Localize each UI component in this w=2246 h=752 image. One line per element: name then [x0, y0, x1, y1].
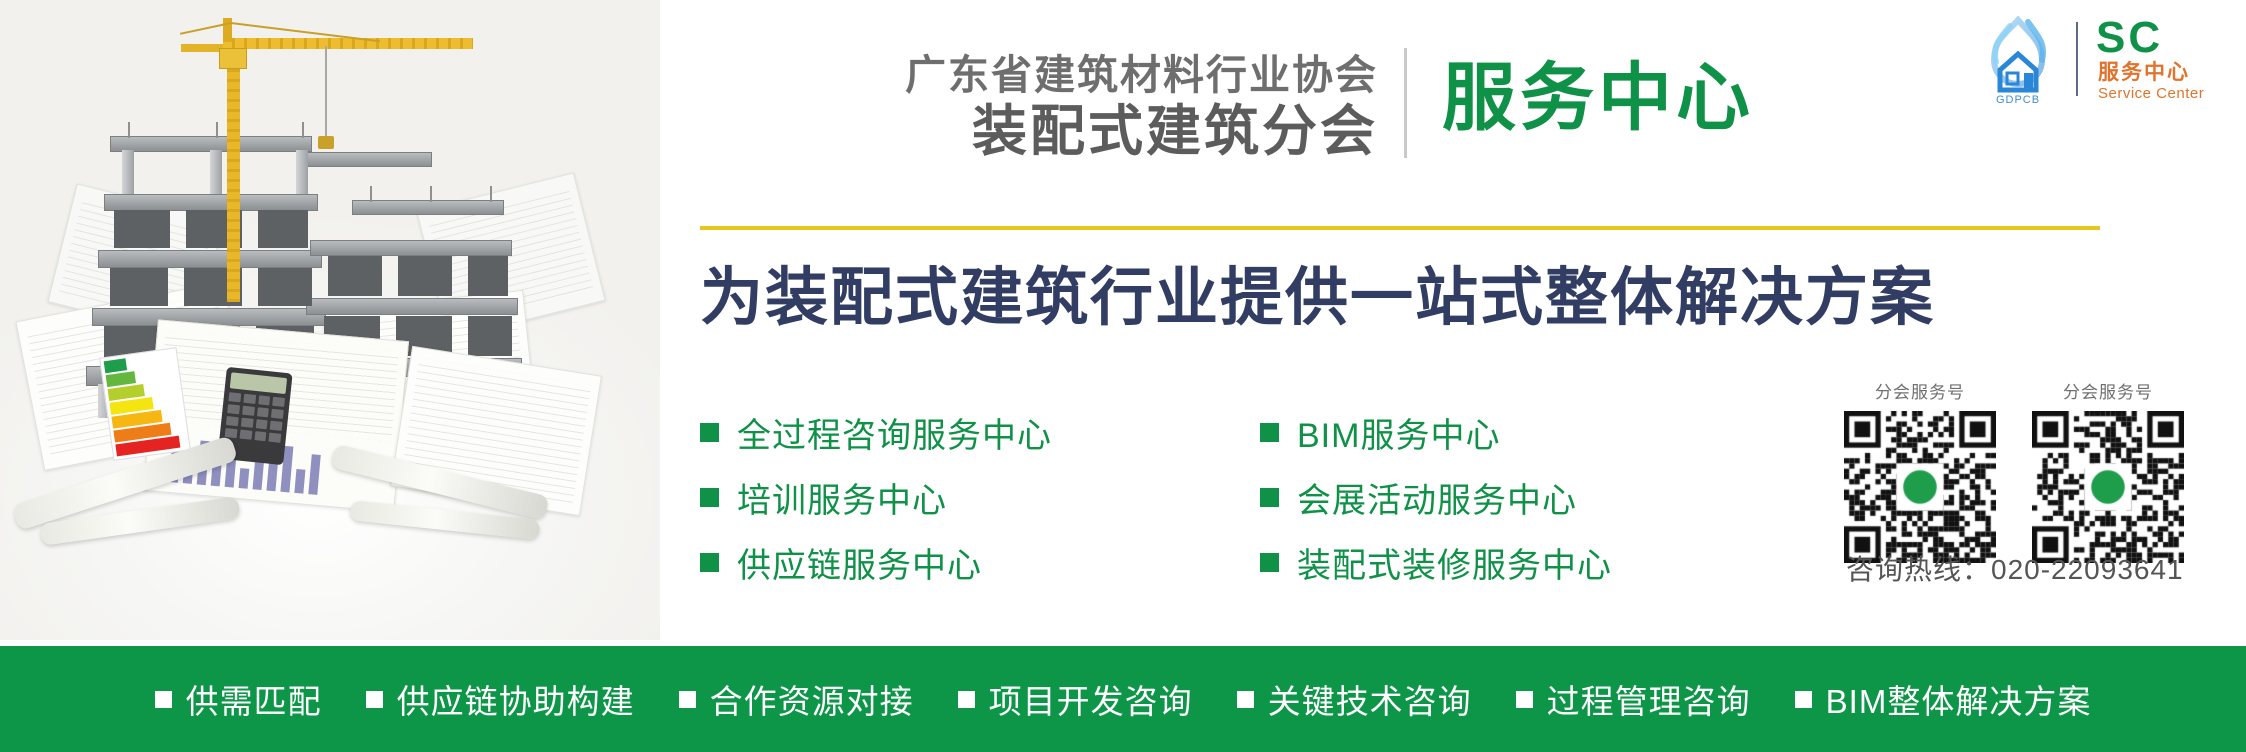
- qr-code-section: 分会服务号 分会服务号: [1840, 378, 2230, 563]
- service-item-label: BIM服务中心: [1297, 408, 1500, 457]
- square-bullet-icon: [700, 553, 719, 572]
- service-item-label: 供应链服务中心: [737, 538, 982, 587]
- footer-item-label: BIM整体解决方案: [1826, 675, 2092, 723]
- square-bullet-icon: [1260, 488, 1279, 507]
- footer-item-supply-chain-build[interactable]: 供应链协助构建: [344, 675, 657, 723]
- qr-code-block: 分会服务号: [1840, 378, 2000, 563]
- footer-item-key-technology[interactable]: 关键技术咨询: [1215, 675, 1494, 723]
- service-center-list: 全过程咨询服务中心 培训服务中心 供应链服务中心 BIM服务中心 会展活动服务中…: [700, 400, 1820, 595]
- qr-code-icon[interactable]: [2032, 411, 2184, 563]
- square-bullet-icon: [1260, 553, 1279, 572]
- footer-item-bim-solution[interactable]: BIM整体解决方案: [1773, 675, 2114, 723]
- logo-name-en: Service Center: [2098, 86, 2204, 101]
- footer-item-partner-resources[interactable]: 合作资源对接: [657, 675, 936, 723]
- logo-abbreviation: SC: [2096, 16, 2163, 60]
- logo[interactable]: GDPCB SC 服务中心 Service Center: [1968, 14, 2230, 106]
- square-bullet-icon: [366, 691, 383, 708]
- footer-item-label: 过程管理咨询: [1547, 675, 1751, 723]
- service-item-label: 会展活动服务中心: [1297, 473, 1577, 522]
- footer-item-supply-demand-matching[interactable]: 供需匹配: [133, 675, 344, 723]
- service-item-label: 全过程咨询服务中心: [737, 408, 1052, 457]
- footer-item-label: 合作资源对接: [710, 675, 914, 723]
- service-item-bim[interactable]: BIM服务中心: [1260, 400, 1820, 465]
- service-item-label: 培训服务中心: [737, 473, 947, 522]
- square-bullet-icon: [1237, 691, 1254, 708]
- association-name: 广东省建筑材料行业协会 装配式建筑分会: [838, 52, 1378, 162]
- qr-code-caption: 分会服务号: [1840, 378, 2000, 403]
- square-bullet-icon: [155, 691, 172, 708]
- footer-item-label: 关键技术咨询: [1268, 675, 1472, 723]
- footer-item-project-development[interactable]: 项目开发咨询: [936, 675, 1215, 723]
- energy-rating-chart: [99, 347, 191, 461]
- gold-divider-rule: [700, 226, 2100, 230]
- vertical-divider: [1404, 48, 1407, 158]
- square-bullet-icon: [700, 423, 719, 442]
- service-column-right: BIM服务中心 会展活动服务中心 装配式装修服务中心: [1260, 400, 1820, 595]
- service-center-title: 服务中心: [1442, 52, 1754, 145]
- logo-divider: [2076, 22, 2078, 96]
- service-item-label: 装配式装修服务中心: [1297, 538, 1612, 587]
- hotline-text: 咨询热线：020-22093641: [1846, 548, 2246, 588]
- footer-item-label: 供需匹配: [186, 675, 322, 723]
- service-item-prefab-decoration[interactable]: 装配式装修服务中心: [1260, 530, 1820, 595]
- logo-mark-caption: GDPCB: [1970, 94, 2066, 106]
- qr-code-icon[interactable]: [1844, 411, 1996, 563]
- qr-code-caption: 分会服务号: [2028, 378, 2188, 403]
- service-column-left: 全过程咨询服务中心 培训服务中心 供应链服务中心: [700, 400, 1260, 595]
- square-bullet-icon: [1260, 423, 1279, 442]
- promotional-banner: 广东省建筑材料行业协会 装配式建筑分会 服务中心 为装配式建筑行业提供一站式整体…: [0, 0, 2246, 752]
- headline-slogan: 为装配式建筑行业提供一站式整体解决方案: [700, 247, 2100, 338]
- square-bullet-icon: [958, 691, 975, 708]
- service-item-training[interactable]: 培训服务中心: [700, 465, 1260, 530]
- square-bullet-icon: [700, 488, 719, 507]
- square-bullet-icon: [1516, 691, 1533, 708]
- construction-building-blueprints-image: [0, 0, 660, 640]
- service-item-exhibition-events[interactable]: 会展活动服务中心: [1260, 465, 1820, 530]
- footer-item-process-management[interactable]: 过程管理咨询: [1494, 675, 1773, 723]
- square-bullet-icon: [679, 691, 696, 708]
- footer-item-label: 项目开发咨询: [989, 675, 1193, 723]
- footer-bar: 供需匹配 供应链协助构建 合作资源对接 项目开发咨询 关键技术咨询 过程管理咨询…: [0, 646, 2246, 752]
- qr-code-block: 分会服务号: [2028, 378, 2188, 563]
- tower-crane: [175, 10, 475, 310]
- service-item-full-process-consulting[interactable]: 全过程咨询服务中心: [700, 400, 1260, 465]
- footer-item-label: 供应链协助构建: [397, 675, 635, 723]
- flame-house-logo-icon: [1976, 16, 2060, 100]
- service-item-supply-chain[interactable]: 供应链服务中心: [700, 530, 1260, 595]
- square-bullet-icon: [1795, 691, 1812, 708]
- association-name-line2: 装配式建筑分会: [838, 101, 1378, 162]
- association-name-line1: 广东省建筑材料行业协会: [838, 52, 1378, 99]
- logo-name-cn: 服务中心: [2098, 62, 2190, 83]
